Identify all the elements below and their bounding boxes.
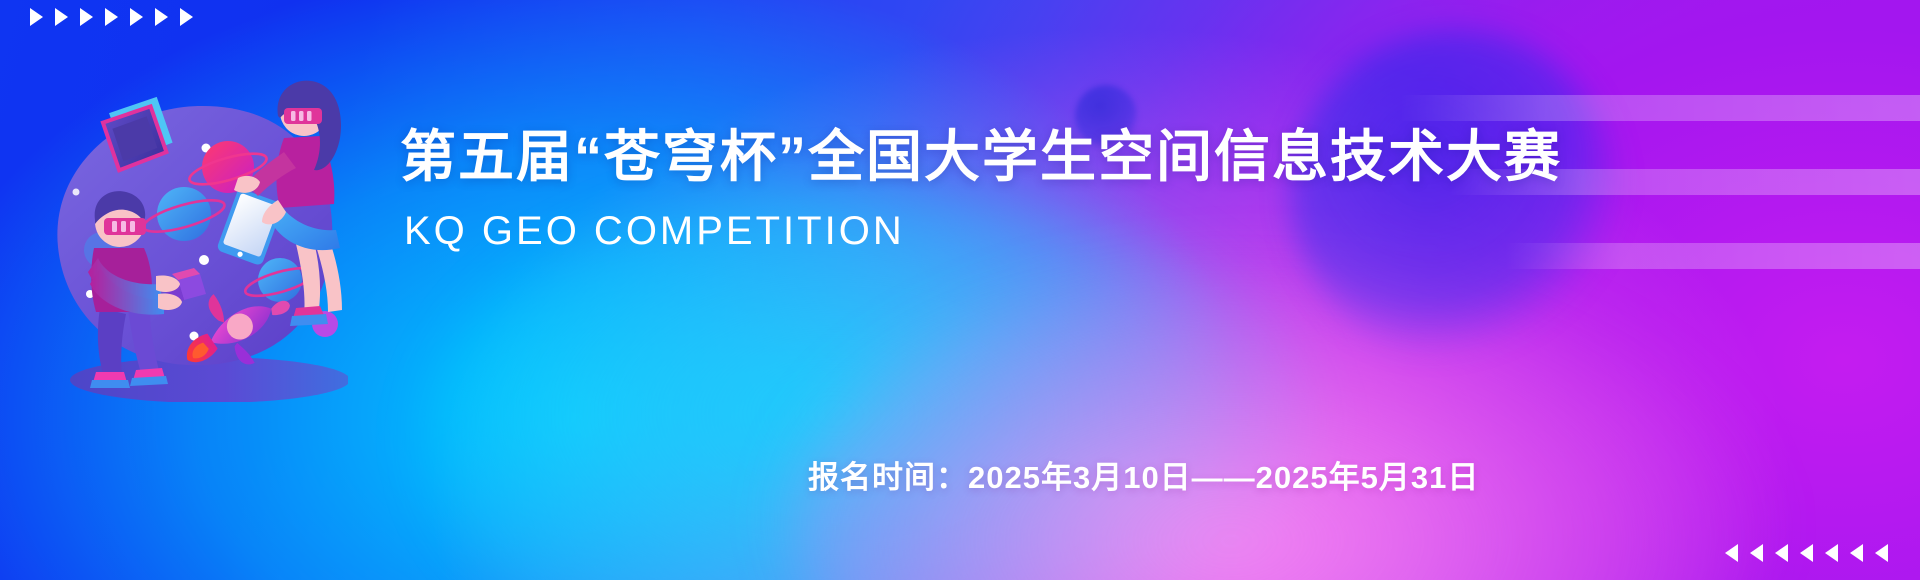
vr-space-exploration-illustration (28, 72, 348, 402)
page-title: 第五届“苍穹杯”全国大学生空间信息技术大赛 (400, 126, 1500, 189)
banner-text-block: 第五届“苍穹杯”全国大学生空间信息技术大赛 KQ GEO COMPETITION (400, 126, 1500, 254)
arrow-left-icon (1775, 544, 1788, 562)
stripe-3 (1505, 243, 1920, 269)
arrow-right-icon (80, 8, 93, 26)
stripe-1 (1400, 95, 1920, 121)
arrow-right-icon (180, 8, 193, 26)
arrow-decoration-top-left (30, 8, 193, 26)
star-dot (73, 189, 80, 196)
arrow-right-icon (130, 8, 143, 26)
arrow-left-icon (1825, 544, 1838, 562)
arrow-left-icon (1750, 544, 1763, 562)
arrow-left-icon (1850, 544, 1863, 562)
arrow-right-icon (30, 8, 43, 26)
star-dot (199, 255, 209, 265)
competition-banner: 第五届“苍穹杯”全国大学生空间信息技术大赛 KQ GEO COMPETITION… (0, 0, 1920, 580)
arrow-decoration-bottom-right (1725, 544, 1888, 562)
arrow-left-icon (1800, 544, 1813, 562)
arrow-left-icon (1725, 544, 1738, 562)
arrow-right-icon (155, 8, 168, 26)
registration-period-text: 报名时间：2025年3月10日——2025年5月31日 (808, 452, 1479, 497)
arrow-left-icon (1875, 544, 1888, 562)
pink-glow-decoration (790, 255, 1770, 580)
subtitle: KQ GEO COMPETITION (404, 209, 1500, 254)
arrow-right-icon (105, 8, 118, 26)
arrow-right-icon (55, 8, 68, 26)
